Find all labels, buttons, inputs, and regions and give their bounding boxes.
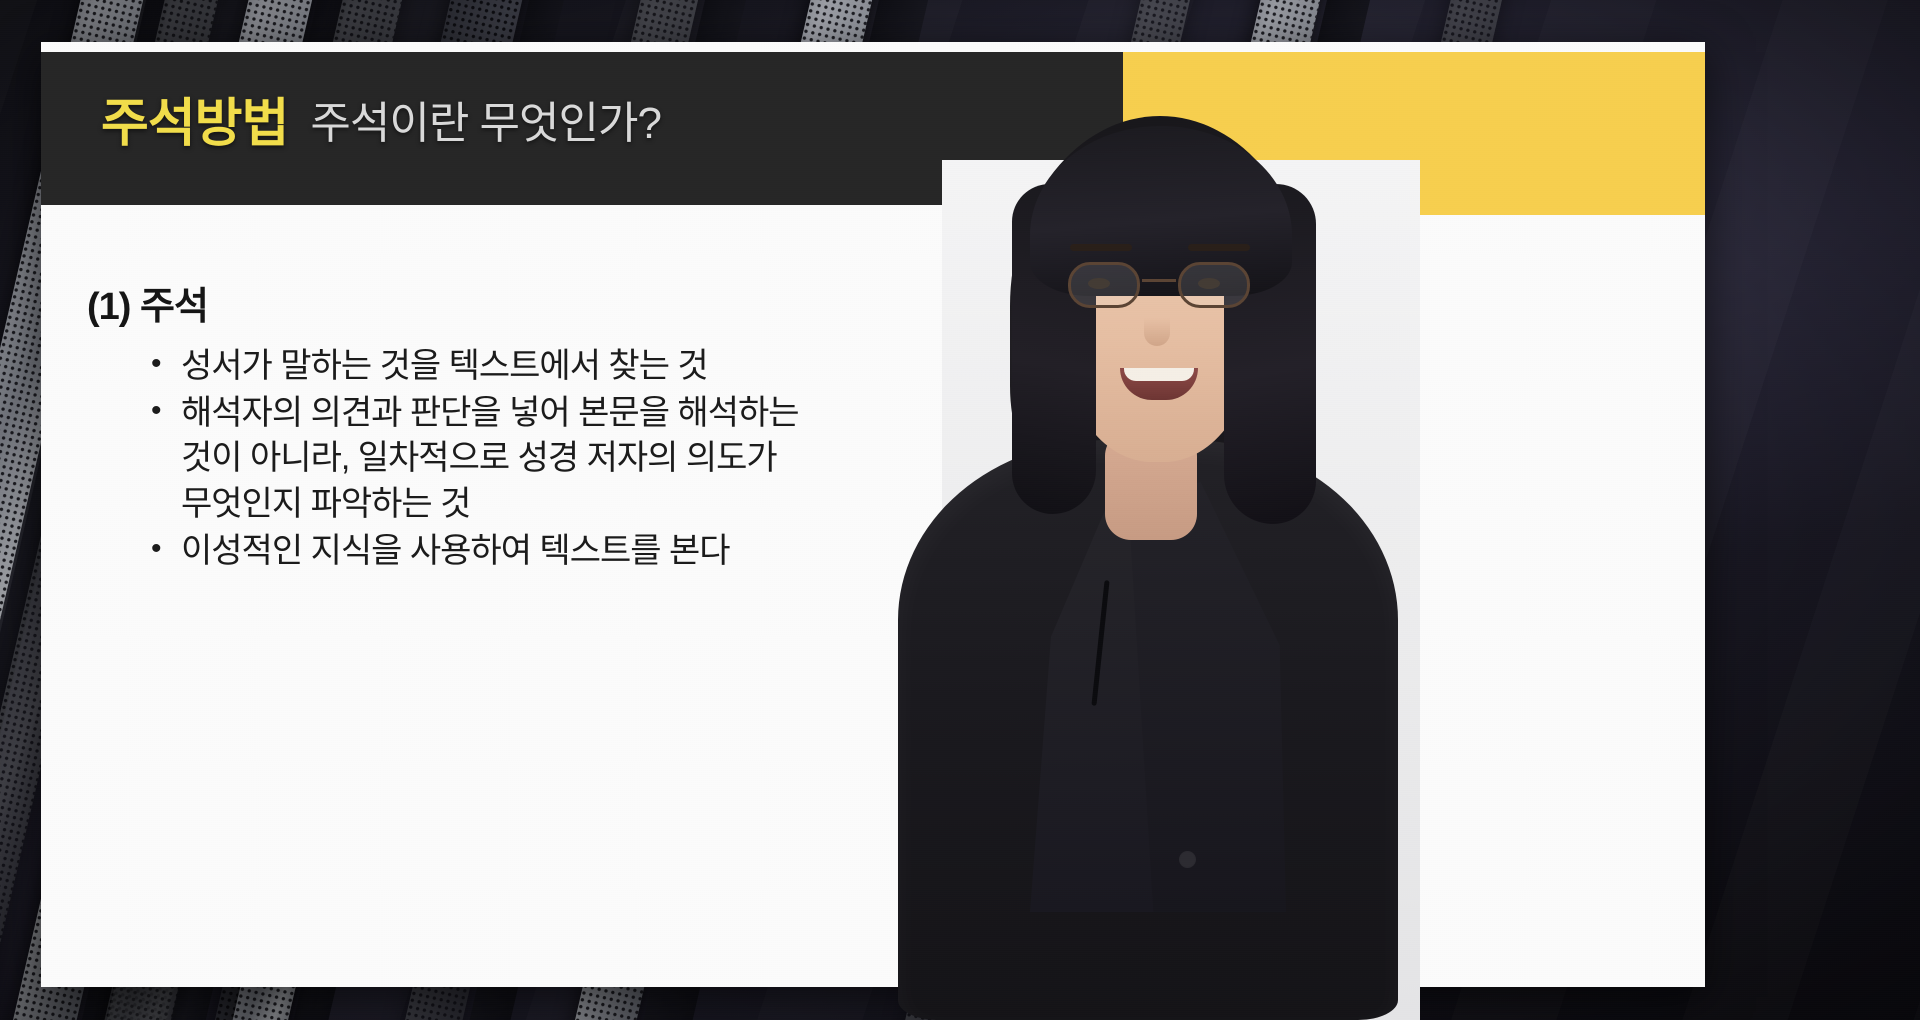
- slide-title: 주석방법: [101, 81, 288, 156]
- bullet-line: 성서가 말하는 것을 텍스트에서 찾는 것: [181, 344, 1149, 389]
- bullet-item: 이성적인 지식을 사용하여 텍스트를 본다: [149, 529, 1149, 574]
- yellow-accent-block: [1123, 52, 1705, 215]
- bullet-line: 무엇인지 파악하는 것: [181, 482, 1149, 527]
- video-frame: 주석방법 주석이란 무엇인가? (1) 주석 성서가 말하는 것을 텍스트에서 …: [0, 0, 1920, 1020]
- slide-subtitle: 주석이란 무엇인가?: [310, 87, 661, 151]
- bullet-line: 이성적인 지식을 사용하여 텍스트를 본다: [181, 529, 1149, 574]
- bullet-line: 것이 아니라, 일차적으로 성경 저자의 의도가: [181, 436, 1149, 481]
- slide-title-group: 주석방법 주석이란 무엇인가?: [101, 42, 661, 195]
- bullet-item: 성서가 말하는 것을 텍스트에서 찾는 것: [149, 344, 1149, 389]
- bullet-list: 성서가 말하는 것을 텍스트에서 찾는 것 해석자의 의견과 판단을 넣어 본문…: [149, 344, 1705, 574]
- slide-body: (1) 주석 성서가 말하는 것을 텍스트에서 찾는 것 해석자의 의견과 판단…: [41, 205, 1705, 987]
- presentation-slide: 주석방법 주석이란 무엇인가? (1) 주석 성서가 말하는 것을 텍스트에서 …: [41, 42, 1705, 987]
- section-heading: (1) 주석: [87, 275, 1705, 330]
- bullet-line: 해석자의 의견과 판단을 넣어 본문을 해석하는: [181, 391, 1149, 436]
- bullet-item: 해석자의 의견과 판단을 넣어 본문을 해석하는 것이 아니라, 일차적으로 성…: [149, 391, 1149, 527]
